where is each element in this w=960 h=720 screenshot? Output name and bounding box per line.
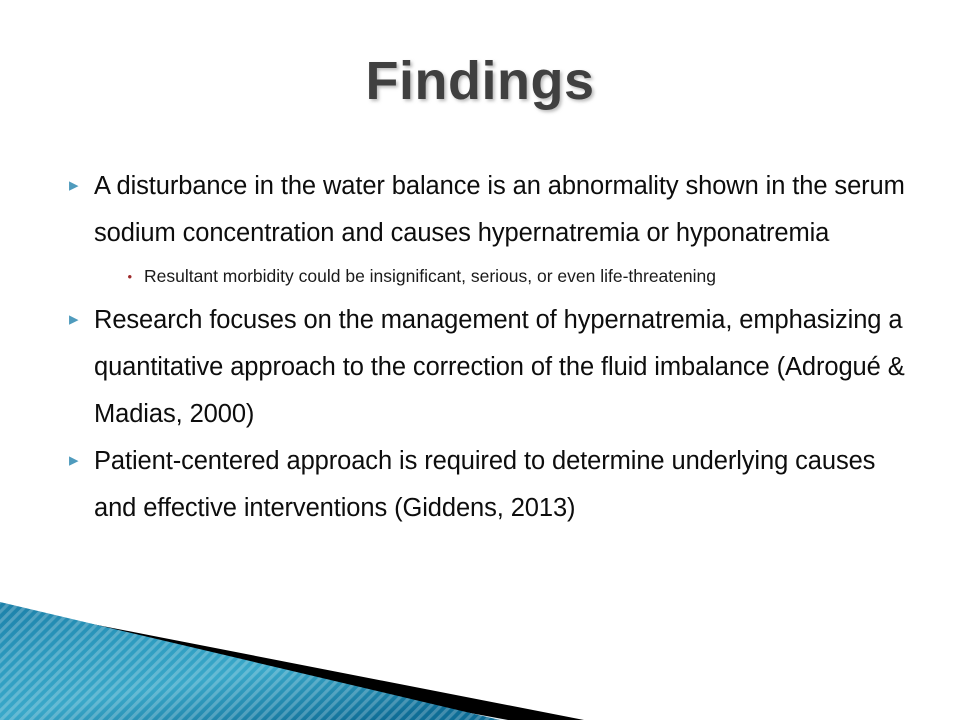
black-diagonal-band <box>0 606 584 720</box>
sub-list-item-text: Resultant morbidity could be insignifica… <box>144 260 910 293</box>
list-item: ▸ Patient-centered approach is required … <box>60 438 910 532</box>
presentation-slide: Findings ▸ A disturbance in the water ba… <box>0 0 960 720</box>
bottom-left-diagonal-banner <box>0 590 960 720</box>
triangle-right-bullet-icon: ▸ <box>60 162 94 209</box>
page-title: Findings <box>0 52 960 111</box>
slide-body: ▸ A disturbance in the water balance is … <box>60 163 910 532</box>
list-item: ▸ A disturbance in the water balance is … <box>60 163 910 257</box>
list-item-text: Research focuses on the management of hy… <box>94 297 910 438</box>
teal-diagonal-triangle <box>0 602 500 720</box>
triangle-right-bullet-icon: ▸ <box>60 296 94 343</box>
list-item: ▸ Research focuses on the management of … <box>60 297 910 438</box>
diagonal-banner-graphic <box>0 590 960 720</box>
list-item-text: A disturbance in the water balance is an… <box>94 163 910 257</box>
teal-triangle-texture <box>0 602 500 720</box>
list-item-text: Patient-centered approach is required to… <box>94 438 910 532</box>
pale-diagonal-band <box>0 624 572 720</box>
sub-list-item: • Resultant morbidity could be insignifi… <box>60 260 910 293</box>
triangle-right-bullet-icon: ▸ <box>60 437 94 484</box>
dot-bullet-icon: • <box>60 260 144 293</box>
